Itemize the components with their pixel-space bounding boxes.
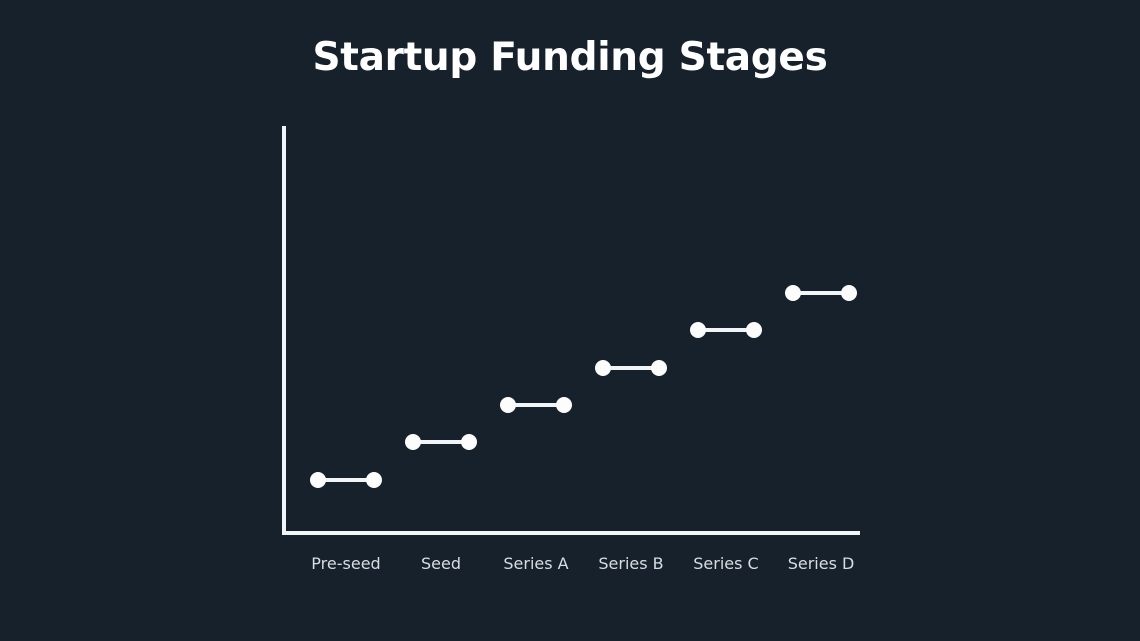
x-axis-tick-label: Pre-seed (311, 553, 380, 575)
data-point-marker (461, 434, 477, 450)
data-point-marker (366, 472, 382, 488)
data-point-marker (556, 397, 572, 413)
data-point-marker (690, 322, 706, 338)
x-axis-tick-label: Series A (503, 553, 568, 575)
x-axis-tick-label: Series D (788, 553, 855, 575)
data-point-marker (785, 285, 801, 301)
step-segment (595, 360, 667, 376)
chart-title: Startup Funding Stages (0, 34, 1140, 82)
step-segment (405, 434, 477, 450)
step-segment (785, 285, 857, 301)
data-point-marker (500, 397, 516, 413)
step-segment (500, 397, 572, 413)
x-axis-tick-label: Series C (693, 553, 758, 575)
x-axis-spine (282, 531, 860, 535)
data-point-marker (651, 360, 667, 376)
chart-figure: Startup Funding Stages Pre-seedSeedSerie… (0, 0, 1140, 641)
x-axis-tick-label: Seed (421, 553, 461, 575)
x-axis-tick-labels: Pre-seedSeedSeries ASeries BSeries CSeri… (282, 553, 860, 577)
data-point-marker (746, 322, 762, 338)
step-segment (690, 322, 762, 338)
data-point-marker (595, 360, 611, 376)
y-axis-spine (282, 126, 286, 535)
step-segment (310, 472, 382, 488)
data-point-marker (405, 434, 421, 450)
plot-area (282, 126, 860, 535)
x-axis-tick-label: Series B (598, 553, 663, 575)
data-point-marker (841, 285, 857, 301)
data-point-marker (310, 472, 326, 488)
